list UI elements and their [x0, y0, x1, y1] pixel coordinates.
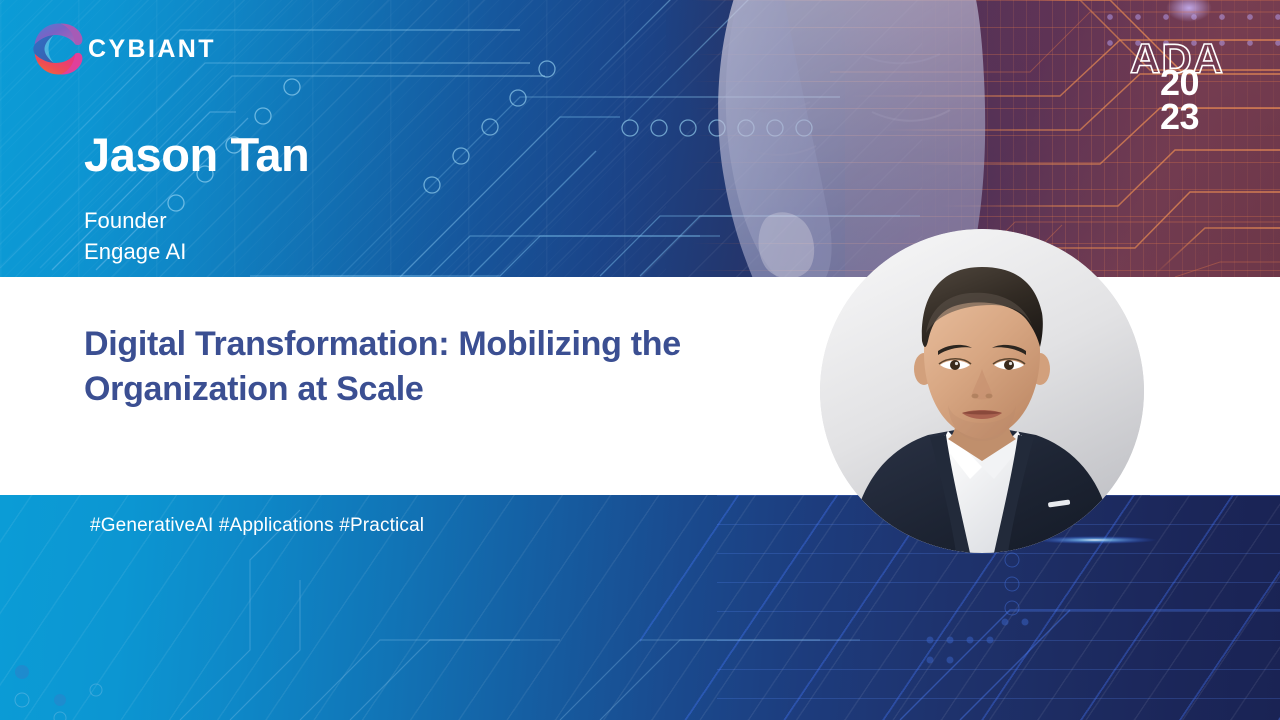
ada-2023-logo: ADA 20 23: [1130, 38, 1240, 148]
talk-title: Digital Transformation: Mobilizing the O…: [84, 322, 784, 412]
speaker-name: Jason Tan: [84, 131, 309, 178]
ada-year-top: 20: [1160, 66, 1199, 100]
speaker-company: Engage AI: [84, 236, 186, 267]
talk-hashtags: #GenerativeAI #Applications #Practical: [90, 515, 424, 537]
speaker-role: Founder: [84, 205, 186, 236]
speaker-slide: CYBIANT ADA 20 23 Jason Tan Founder Enga…: [0, 0, 1280, 720]
ada-year: 20 23: [1160, 66, 1199, 134]
ada-year-bottom: 23: [1160, 100, 1199, 134]
speaker-headshot-illustration: [820, 229, 1144, 553]
cybiant-logo[interactable]: CYBIANT: [30, 20, 230, 78]
speaker-role-block: Founder Engage AI: [84, 205, 186, 267]
cybiant-wordmark: CYBIANT: [88, 35, 216, 64]
speaker-portrait: [820, 229, 1144, 553]
cybiant-swirl-icon: [30, 20, 88, 78]
